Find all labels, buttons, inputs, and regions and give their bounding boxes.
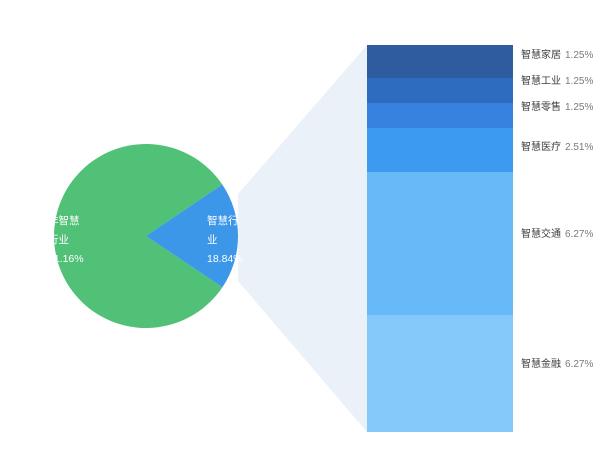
bar-segment[interactable]: [367, 78, 513, 103]
bar-segment-value: 2.51%: [565, 142, 593, 153]
bar-segment-label: 智慧工业: [521, 74, 561, 87]
bar-segment[interactable]: [367, 172, 513, 315]
pie-chart: 非智慧 行业 81.16% 智慧行 业 18.84%: [48, 144, 243, 328]
bar-segment-label: 智慧零售: [521, 100, 561, 113]
bar-segment[interactable]: [367, 128, 513, 172]
pie-slice-non-smart-label-line1: 非智慧: [48, 214, 80, 227]
pie-slice-smart-label-line1: 智慧行: [207, 214, 239, 227]
bar-segment[interactable]: [367, 315, 513, 432]
pie-breakdown-chart: 非智慧 行业 81.16% 智慧行 业 18.84% 智慧家居1.25%智慧工业…: [0, 0, 600, 474]
bar-segment-value: 6.27%: [565, 229, 593, 240]
bar-segment-label: 智慧交通: [521, 227, 561, 240]
chart-canvas: 非智慧 行业 81.16% 智慧行 业 18.84% 智慧家居1.25%智慧工业…: [0, 0, 600, 474]
bar-segment-value: 6.27%: [565, 359, 593, 370]
pie-slice-non-smart-value: 81.16%: [48, 253, 84, 265]
bar-segment-value: 1.25%: [565, 102, 593, 113]
bar-segment-value: 1.25%: [565, 50, 593, 61]
bar-segment-label: 智慧医疗: [521, 140, 561, 153]
bar-segment-value: 1.25%: [565, 76, 593, 87]
bar-segment-label: 智慧金融: [521, 357, 561, 370]
stacked-bar: [367, 45, 513, 432]
pie-slice-non-smart-label-line2: 行业: [48, 233, 69, 246]
pie-slice-smart-value: 18.84%: [207, 253, 243, 265]
funnel-connector: [238, 45, 367, 432]
pie-slice-smart-label-line2: 业: [207, 234, 218, 246]
bar-segment[interactable]: [367, 45, 513, 78]
bar-segment-label: 智慧家居: [521, 48, 561, 61]
bar-segment[interactable]: [367, 103, 513, 128]
stacked-bar-labels: 智慧家居1.25%智慧工业1.25%智慧零售1.25%智慧医疗2.51%智慧交通…: [521, 48, 593, 370]
